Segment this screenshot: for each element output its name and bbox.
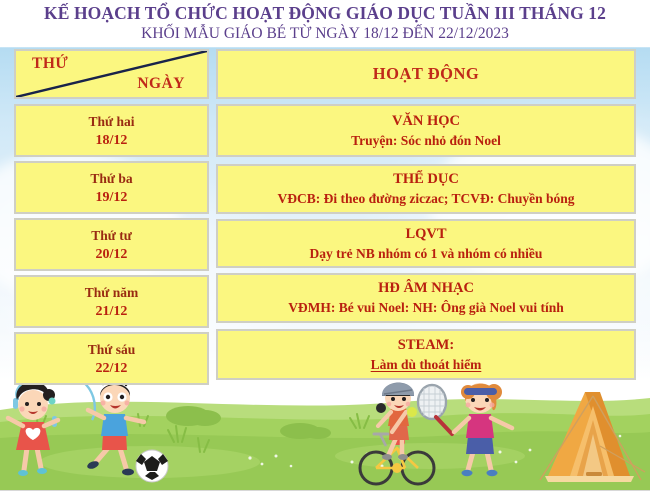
- slide-canvas: KẾ HOẠCH TỔ CHỨC HOẠT ĐỘNG GIÁO DỤC TUẦN…: [0, 0, 650, 496]
- activity-detail: Làm dù thoát hiểm: [371, 355, 482, 374]
- activity-title: HĐ ÂM NHẠC: [378, 279, 474, 298]
- day-name: Thứ ba: [90, 169, 132, 188]
- activity-detail: Dạy trẻ NB nhóm có 1 và nhóm có nhiều: [310, 244, 543, 263]
- illustration-children-playing: [0, 376, 650, 490]
- activity-header-label: HOẠT ĐỘNG: [373, 64, 479, 84]
- activity-title: VĂN HỌC: [392, 112, 460, 131]
- day-name: Thứ tư: [91, 226, 132, 245]
- table-row: STEAM: Làm dù thoát hiểm: [216, 329, 636, 380]
- activity-title: STEAM:: [398, 336, 454, 355]
- table-row: Thứ sáu 22/12: [14, 332, 209, 385]
- footer-divider: [0, 490, 650, 496]
- table-row: THỂ DỤC VĐCB: Đi theo đường ziczac; TCVĐ…: [216, 164, 636, 214]
- activity-title: LQVT: [405, 225, 446, 244]
- table-row: Thứ ba 19/12: [14, 161, 209, 214]
- activity-title: THỂ DỤC: [393, 170, 459, 189]
- table-row: HĐ ÂM NHẠC VĐMH: Bé vui Noel: NH: Ông gi…: [216, 273, 636, 323]
- day-name: Thứ năm: [85, 283, 139, 302]
- day-date: 19/12: [96, 188, 128, 207]
- day-date: 20/12: [96, 245, 128, 264]
- table-row: VĂN HỌC Truyện: Sóc nhỏ đón Noel: [216, 104, 636, 157]
- day-date: 21/12: [96, 302, 128, 321]
- table-row: Thứ năm 21/12: [14, 275, 209, 328]
- activity-detail: VĐMH: Bé vui Noel: NH: Ông già Noel vui …: [288, 298, 564, 317]
- page-title: KẾ HOẠCH TỔ CHỨC HOẠT ĐỘNG GIÁO DỤC TUẦN…: [0, 3, 650, 24]
- table-header-activity: HOẠT ĐỘNG: [216, 49, 636, 99]
- activity-detail: Truyện: Sóc nhỏ đón Noel: [351, 131, 501, 150]
- day-name: Thứ sáu: [88, 340, 136, 359]
- schedule-table: THỨ NGÀY HOẠT ĐỘNG Thứ hai 18/12 VĂN HỌC…: [0, 47, 650, 97]
- page-subtitle: KHỐI MẪU GIÁO BÉ TỪ NGÀY 18/12 ĐẾN 22/12…: [0, 24, 650, 44]
- table-row: LQVT Dạy trẻ NB nhóm có 1 và nhóm có nhi…: [216, 219, 636, 268]
- day-date: 22/12: [96, 359, 128, 378]
- table-row: Thứ tư 20/12: [14, 218, 209, 271]
- header-label-thu: THỨ: [32, 55, 68, 73]
- table-row: Thứ hai 18/12: [14, 104, 209, 157]
- header-label-ngay: NGÀY: [137, 75, 185, 93]
- table-corner-header: THỨ NGÀY: [14, 49, 209, 99]
- day-name: Thứ hai: [89, 112, 135, 131]
- day-date: 18/12: [96, 131, 128, 150]
- activity-detail: VĐCB: Đi theo đường ziczac; TCVĐ: Chuyền…: [278, 189, 575, 208]
- title-block: KẾ HOẠCH TỔ CHỨC HOẠT ĐỘNG GIÁO DỤC TUẦN…: [0, 0, 650, 47]
